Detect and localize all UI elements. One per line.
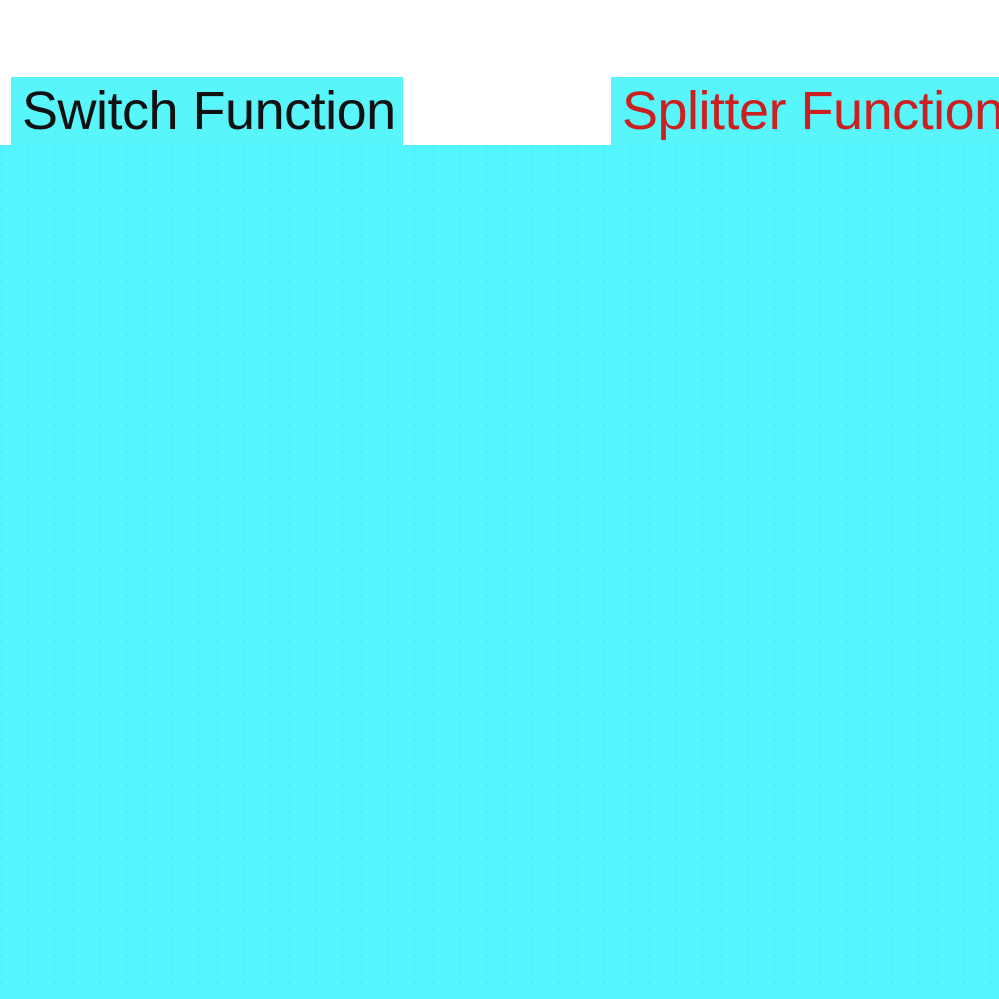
switch-function-label: Switch Function — [22, 84, 396, 138]
cyan-content-panel — [0, 145, 999, 999]
label-band: Switch Function Splitter Function — [0, 77, 999, 145]
screenshot-canvas: Switch Function Splitter Function — [0, 0, 999, 999]
splitter-function-label: Splitter Function — [622, 84, 999, 138]
splitter-function-label-chip: Splitter Function — [611, 77, 999, 145]
switch-function-label-chip: Switch Function — [11, 77, 403, 145]
